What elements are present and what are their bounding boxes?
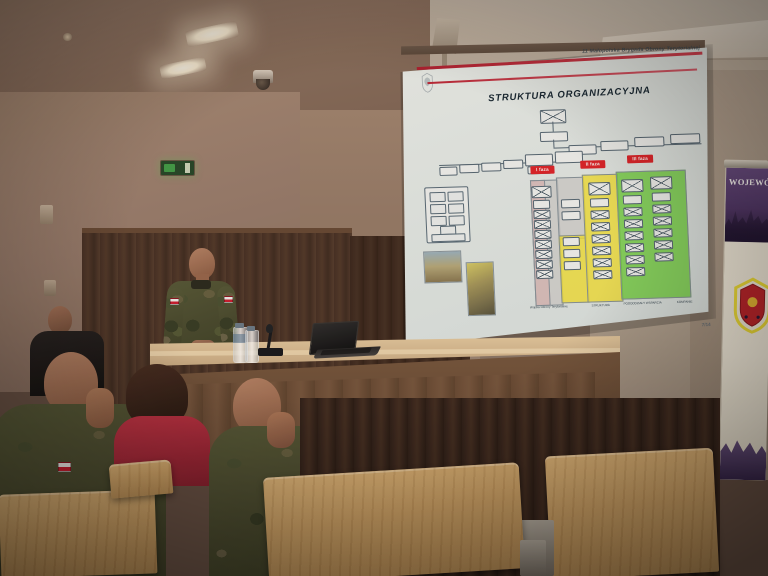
lecture-hall-photo: WOJEWÓDZ 11 Małopolska Brygada Obrony Te… [0, 0, 768, 576]
org-unit-p1-e [535, 240, 552, 249]
soldier-field-photo [423, 250, 462, 283]
slide-accent-rule-top [417, 52, 703, 70]
seat-bracket-center [520, 540, 546, 576]
legend-cell-3 [430, 204, 446, 214]
org-unit-p3a-5 [625, 243, 644, 253]
legend-cell-2 [447, 191, 463, 201]
org-unit-p3a-4 [624, 231, 643, 241]
water-bottle-2-cap [247, 326, 255, 331]
unit-symbol-legend [424, 186, 471, 243]
projected-slide: 11 Małopolska Brygada Obrony Terytorialn… [404, 43, 717, 340]
slide-title: STRUKTURA ORGANIZACYJNA [488, 85, 651, 104]
presenter-collar [191, 280, 211, 289]
org-unit-p1-h [536, 270, 553, 279]
wall-socket-plate [44, 280, 56, 296]
org-unit-p2-b [590, 210, 609, 220]
org-unit-p3a-2 [623, 207, 642, 217]
org-unit-p1c-b [561, 211, 580, 221]
org-unit-p2-f [593, 258, 612, 268]
banner-cityscape-silhouette [725, 198, 768, 243]
emergency-exit-sign [160, 160, 195, 176]
banner-title: WOJEWÓDZ [729, 177, 768, 188]
org-unit-p2-d [591, 234, 610, 244]
legend-cell-1 [429, 192, 445, 202]
org-node-dept-4 [503, 160, 523, 170]
org-unit-p1c-a [561, 199, 580, 209]
phase-caption-1: Wojska Obrony Terytorialnej [528, 305, 570, 310]
org-unit-p1-d [534, 230, 551, 239]
org-unit-p3-head-b [650, 176, 673, 190]
banner-header-band: WOJEWÓDZ [725, 168, 768, 243]
audience-dark-jacket-head [48, 306, 72, 334]
seat-back-row1-center [263, 462, 525, 576]
org-unit-p1-f [535, 250, 552, 259]
org-unit-p2-head [588, 182, 611, 196]
org-node-dept-1 [439, 166, 457, 176]
seat-armrest-left [109, 459, 174, 498]
org-unit-p1-b [533, 210, 550, 219]
org-node-dept-3 [481, 162, 501, 172]
legend-cell-4 [448, 203, 464, 213]
legend-cell-footer [431, 233, 465, 242]
polish-flag-patch-right [224, 296, 233, 303]
seat-wood-grain-left [0, 489, 157, 576]
polish-flag-patch-audience-left [58, 462, 71, 472]
org-unit-p2a-a [563, 237, 580, 246]
org-unit-p3b-2 [652, 204, 671, 214]
org-node-staff-2 [600, 140, 628, 151]
seat-back-row1-left [0, 489, 157, 576]
phase-badge-3: III faza [627, 155, 653, 164]
org-unit-p3-head-a [621, 179, 644, 193]
org-unit-p3a-1 [623, 195, 642, 205]
water-bottle-2 [245, 330, 259, 363]
org-node-staff-4 [670, 133, 700, 144]
phase-badge-2: II faza [580, 160, 605, 169]
org-unit-p3b-1 [652, 192, 671, 202]
audience-camo-right-hand [267, 412, 295, 448]
org-unit-p3b-6 [654, 252, 673, 262]
phase-caption-3: PODODDZIAŁY WSPARCIA [621, 301, 665, 306]
org-unit-p2a-c [564, 261, 581, 270]
org-unit-p1-c [534, 220, 551, 229]
org-unit-p3a-3 [624, 219, 643, 229]
coat-of-arms-emblem [732, 276, 768, 335]
soldier-standing-photo [466, 261, 496, 316]
microphone-base [258, 348, 283, 356]
org-unit-p3b-4 [653, 228, 672, 238]
org-unit-p2-a [590, 198, 609, 208]
audience-camo-left-hand [86, 388, 114, 428]
seat-back-row2-right [545, 448, 719, 576]
org-unit-p3a-6 [625, 255, 644, 265]
seat-wood-grain [545, 448, 719, 576]
phase-badge-1: I faza [530, 166, 554, 175]
ceiling-spot-fixture [63, 33, 72, 41]
org-unit-p2-c [591, 222, 610, 232]
seat-wood-grain-center [263, 462, 525, 576]
phase-caption-2: STRUKTURA [578, 304, 624, 309]
org-unit-symbol-p1 [531, 186, 552, 199]
microphone-head [266, 324, 273, 333]
legend-cell-5 [430, 216, 446, 226]
wall-sensor [40, 205, 53, 224]
seat-wood-grain-armrest [109, 459, 174, 498]
legend-cell-6 [448, 215, 464, 225]
organizational-chart: I faza II faza III faza [407, 103, 716, 317]
org-node-dept-2 [459, 164, 479, 174]
slide-accent-rule-under-title [427, 68, 697, 84]
org-unit-p1-g [536, 260, 553, 269]
slide-page-number: 7/14 [702, 322, 711, 327]
org-node-dept-6 [555, 151, 584, 164]
org-node-staff-3 [634, 136, 664, 147]
rollup-banner: WOJEWÓDZ [719, 168, 768, 481]
water-bottle-1-cap [235, 323, 244, 328]
org-unit-p2-e [592, 246, 611, 256]
org-unit-p3b-5 [654, 240, 673, 250]
org-unit-p3b-3 [653, 216, 672, 226]
org-unit-p1-a [533, 200, 550, 209]
org-unit-p2-g [593, 270, 612, 280]
phase-caption-4: KOMPANIE [666, 300, 704, 305]
org-node-dept-5 [525, 154, 554, 167]
banner-footer-cityscape [720, 428, 767, 481]
org-unit-p3a-7 [626, 267, 645, 277]
org-unit-p2a-b [563, 249, 580, 258]
polish-flag-patch-left [170, 298, 179, 305]
